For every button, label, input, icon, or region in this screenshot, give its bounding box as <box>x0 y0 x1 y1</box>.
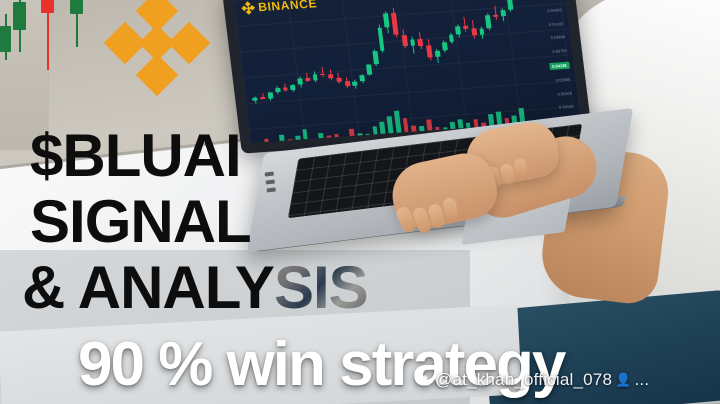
poster-canvas: BINANCE 0.045000.043000.041000.039000.03… <box>0 0 720 404</box>
watermark-ellipsis: ... <box>635 370 650 390</box>
headline-line-analysis: & ANALYSIS <box>22 258 368 318</box>
headline-analysis-plain: & ANALY <box>22 254 274 321</box>
headline-line-signal: SIGNAL <box>30 192 251 252</box>
watermark-emoji: 👤 <box>615 372 631 388</box>
headline-analysis-masked: SIS <box>274 254 368 321</box>
watermark: @at_khan_official_078 👤 ... <box>418 370 649 390</box>
headline-line-ticker: $BLUAI <box>30 126 241 186</box>
watermark-handle: @at_khan_official_078 <box>435 370 612 390</box>
user-badge-icon <box>418 373 432 387</box>
headline-group: $BLUAI SIGNAL & ANALYSIS 90 % win strate… <box>0 0 720 404</box>
